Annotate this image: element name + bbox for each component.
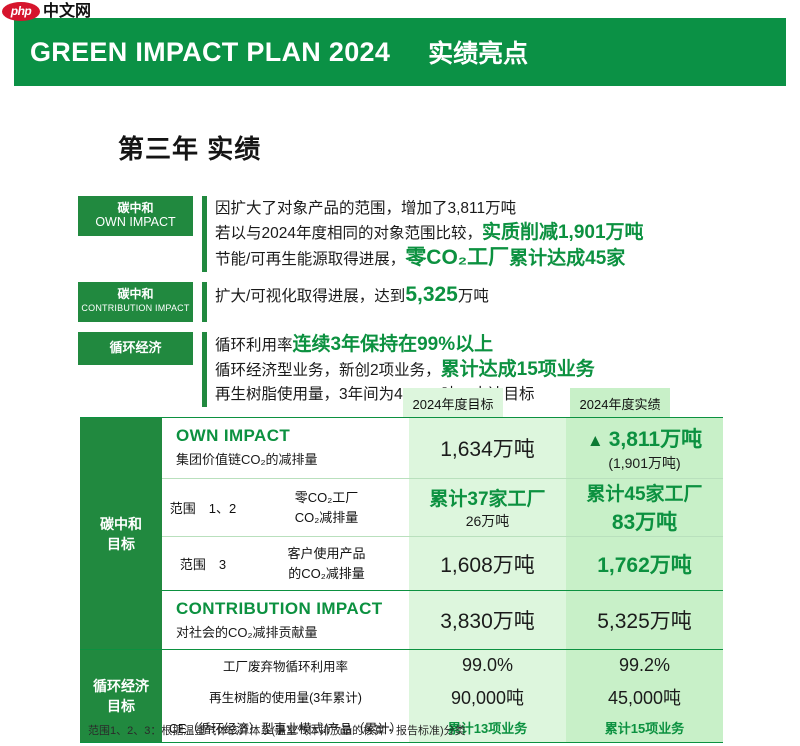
cell-actual: 45,000吨 (566, 681, 723, 712)
table-row: 再生树脂的使用量(3年累计) 90,000吨 45,000吨 (162, 681, 723, 712)
highlight-emphasis: 实质削减1,901万吨 (482, 222, 644, 243)
cell-target: 1,634万吨 (409, 418, 566, 478)
target-value: 1,634万吨 (440, 433, 535, 463)
scope-label: 范围 1、2 (162, 479, 244, 536)
group-rows: OWN IMPACT 集团价值链CO₂的减排量 1,634万吨 ▲3,811万吨… (162, 418, 723, 649)
desc-line2: 的CO₂减排量 (288, 564, 365, 584)
table-row: OWN IMPACT 集团价值链CO₂的减排量 1,634万吨 ▲3,811万吨… (162, 418, 723, 478)
up-triangle-icon: ▲ (587, 431, 604, 450)
group-label-line1: 循环经济 (93, 676, 149, 696)
actual-value: ▲3,811万吨 (587, 423, 702, 453)
highlight-lines: 因扩大了对象产品的范围，增加了3,811万吨 若以与2024年度相同的对象范围比… (215, 196, 738, 272)
row-subtitle: 集团价值链CO₂的减排量 (176, 449, 401, 468)
header-band: GREEN IMPACT PLAN 2024 实绩亮点 (14, 18, 786, 86)
actual-value: 1,762万吨 (597, 549, 692, 579)
badge-line1: 碳中和 (80, 201, 191, 215)
actual-value-text: 3,811万吨 (609, 428, 702, 451)
row-description: OWN IMPACT 集团价值链CO₂的减排量 (162, 418, 409, 478)
cell-actual: 累计15项业务 (566, 712, 723, 742)
badge-line2: CONTRIBUTION IMPACT (80, 301, 191, 316)
desc-line2: CO₂减排量 (295, 508, 359, 528)
accent-bar (202, 282, 207, 322)
badge-line2: OWN IMPACT (80, 215, 191, 230)
highlight-text: 循环经济型业务，新创2项业务， (215, 362, 441, 379)
cell-actual: ▲3,811万吨 (1,901万吨) (566, 418, 723, 478)
highlight-line: 循环利用率连续3年保持在99%以上 (215, 333, 738, 358)
row-title: OWN IMPACT (176, 426, 401, 446)
column-header-actual: 2024年度实绩 (570, 388, 670, 418)
badge-contribution-impact: 碳中和 CONTRIBUTION IMPACT (78, 282, 193, 322)
row-subtitle: 对社会的CO₂减排贡献量 (176, 622, 401, 641)
table-row: CONTRIBUTION IMPACT 对社会的CO₂减排贡献量 3,830万吨… (162, 590, 723, 649)
target-value: 1,608万吨 (440, 549, 535, 579)
highlight-emphasis-big: 零CO₂工厂 (405, 246, 509, 269)
highlight-emphasis-big: 5,325 (405, 283, 458, 306)
row-title: CONTRIBUTION IMPACT (176, 599, 401, 619)
cell-target: 累计37家工厂 26万吨 (409, 479, 566, 536)
group-label-carbon-neutral: 碳中和 目标 (80, 418, 162, 649)
php-logo-icon: php (2, 2, 40, 21)
table-group-carbon-neutral: 碳中和 目标 OWN IMPACT 集团价值链CO₂的减排量 1,634万吨 ▲… (80, 418, 723, 649)
accent-bar (202, 332, 207, 407)
highlight-emphasis: 累计达成15项业务 (441, 359, 595, 380)
highlight-lines: 扩大/可视化取得进展，达到5,325万吨 (215, 282, 738, 309)
section-title: 第三年 实绩 (118, 129, 261, 166)
row-description: 零CO₂工厂 CO₂减排量 (244, 479, 409, 536)
row-description: 再生树脂的使用量(3年累计) (162, 681, 409, 712)
cell-actual: 5,325万吨 (566, 591, 723, 649)
actual-subvalue: (1,901万吨) (608, 453, 680, 473)
actual-value: 5,325万吨 (597, 605, 692, 635)
cell-actual: 99.2% (566, 650, 723, 681)
accent-bar (202, 196, 207, 272)
column-header-target: 2024年度目标 (403, 388, 503, 418)
group-label-line2: 目标 (100, 534, 142, 554)
highlight-emphasis: 累计达成45家 (509, 248, 625, 269)
row-description: 客户使用产品 的CO₂减排量 (244, 537, 409, 590)
row-description: CONTRIBUTION IMPACT 对社会的CO₂减排贡献量 (162, 591, 409, 649)
highlight-emphasis: 连续3年保持在99%以上 (293, 334, 494, 355)
desc-line1: 客户使用产品 (287, 544, 365, 564)
results-table: 碳中和 目标 OWN IMPACT 集团价值链CO₂的减排量 1,634万吨 ▲… (80, 417, 723, 743)
cell-target: 90,000吨 (409, 681, 566, 712)
header-title-en: GREEN IMPACT PLAN 2024 (30, 37, 390, 68)
highlight-line: 循环经济型业务，新创2项业务，累计达成15项业务 (215, 358, 738, 383)
table-row: 范围 1、2 零CO₂工厂 CO₂减排量 累计37家工厂 26万吨 累计45家工… (162, 478, 723, 536)
badge-line1: 碳中和 (80, 287, 191, 301)
highlight-line: 节能/可再生能源取得进展，零CO₂工厂累计达成45家 (215, 246, 738, 272)
actual-subvalue: 83万吨 (612, 506, 677, 536)
highlight-group-contribution-impact: 碳中和 CONTRIBUTION IMPACT 扩大/可视化取得进展，达到5,3… (78, 282, 738, 322)
group-label-line1: 碳中和 (100, 514, 142, 534)
highlight-line: 因扩大了对象产品的范围，增加了3,811万吨 (215, 197, 738, 221)
highlight-text: 循环利用率 (215, 337, 293, 354)
highlight-text: 节能/可再生能源取得进展， (215, 251, 405, 268)
actual-value: 累计45家工厂 (586, 479, 702, 506)
badge-own-impact: 碳中和 OWN IMPACT (78, 196, 193, 236)
badge-circular-economy: 循环经济 (78, 332, 193, 365)
highlight-text: 因扩大了对象产品的范围，增加了3,811万吨 (215, 200, 516, 217)
watermark-text: 中文网 (43, 2, 91, 21)
badge-line1: 循环经济 (80, 341, 191, 355)
desc-line1: 零CO₂工厂 (295, 488, 359, 508)
table-row: 工厂废弃物循环利用率 99.0% 99.2% (162, 650, 723, 681)
table-row: 范围 3 客户使用产品 的CO₂减排量 1,608万吨 1,762万吨 (162, 536, 723, 590)
highlight-text: 若以与2024年度相同的对象范围比较， (215, 225, 482, 242)
highlight-group-own-impact: 碳中和 OWN IMPACT 因扩大了对象产品的范围，增加了3,811万吨 若以… (78, 196, 738, 272)
cell-actual: 累计45家工厂 83万吨 (566, 479, 723, 536)
highlights-block: 碳中和 OWN IMPACT 因扩大了对象产品的范围，增加了3,811万吨 若以… (78, 196, 738, 417)
header-title-cn: 实绩亮点 (428, 34, 528, 70)
row-description: 工厂废弃物循环利用率 (162, 650, 409, 681)
cell-target: 1,608万吨 (409, 537, 566, 590)
highlight-line: 扩大/可视化取得进展，达到5,325万吨 (215, 283, 738, 309)
group-label-line2: 目标 (93, 696, 149, 716)
highlight-line: 若以与2024年度相同的对象范围比较，实质削减1,901万吨 (215, 221, 738, 246)
target-value: 3,830万吨 (440, 605, 535, 635)
highlight-text: 扩大/可视化取得进展，达到 (215, 288, 405, 305)
cell-actual: 1,762万吨 (566, 537, 723, 590)
watermark: php 中文网 (0, 0, 91, 22)
cell-target: 3,830万吨 (409, 591, 566, 649)
target-subvalue: 26万吨 (466, 511, 510, 531)
target-value: 累计37家工厂 (429, 484, 545, 511)
highlight-text-tail: 万吨 (458, 288, 489, 305)
footnote: 范围1、2、3：根据温室气体核算体系(温室气体排放量的核算・报告标准)分类 (88, 722, 466, 738)
cell-target: 99.0% (409, 650, 566, 681)
scope-label: 范围 3 (162, 537, 244, 590)
slide-page: php 中文网 GREEN IMPACT PLAN 2024 实绩亮点 第三年 … (0, 0, 800, 746)
